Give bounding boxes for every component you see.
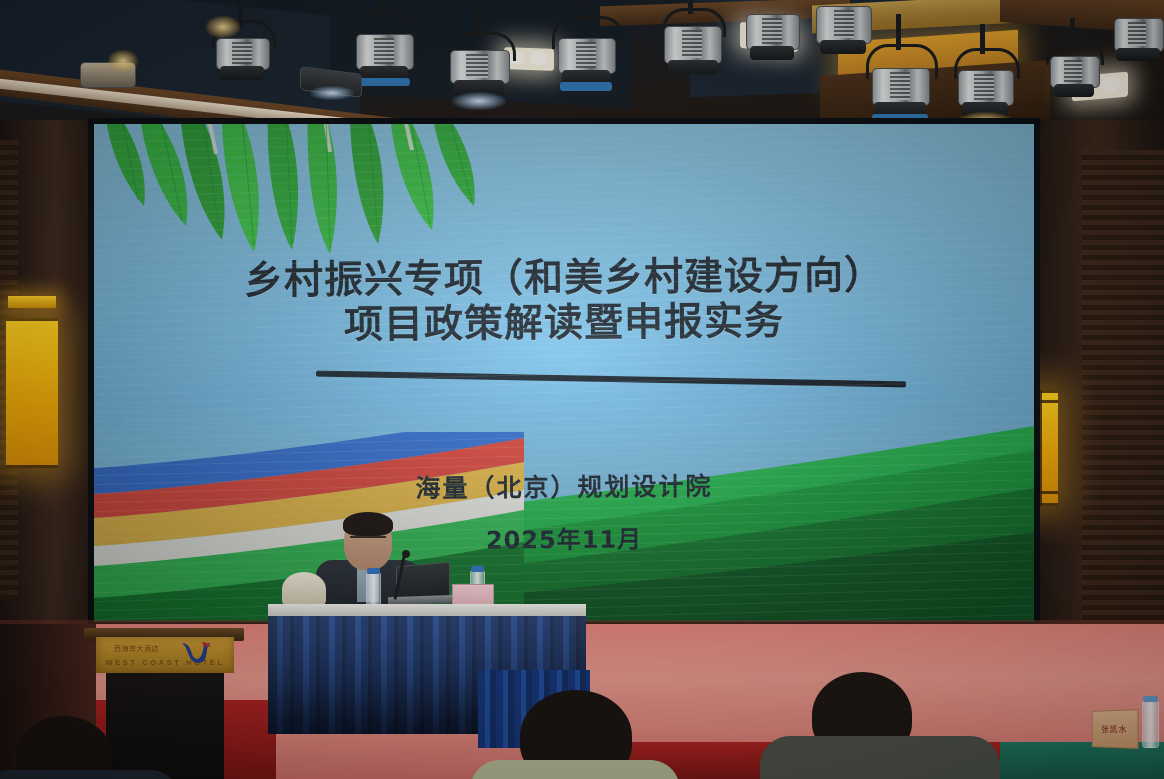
podium-plaque-chinese: 西海岸大酒店	[114, 644, 159, 654]
conference-hall-photo: 乡村振兴专项（和美乡村建设方向） 项目政策解读暨申报实务 海量（北京）规划设计院…	[0, 0, 1164, 779]
audience-shoulders	[470, 760, 680, 779]
podium-body	[106, 673, 224, 779]
slide-organization: 海量（北京）规划设计院	[94, 465, 1034, 508]
slide-divider-rule	[316, 371, 906, 388]
slide-title-line-2: 项目政策解读暨申报实务	[94, 297, 1034, 350]
audience-shoulders	[760, 736, 1000, 779]
microphone-head	[402, 550, 410, 558]
wall-sconce-left	[6, 318, 58, 468]
led-screen: 乡村振兴专项（和美乡村建设方向） 项目政策解读暨申报实务 海量（北京）规划设计院…	[94, 124, 1034, 622]
back-table	[1000, 742, 1164, 779]
slide-title: 乡村振兴专项（和美乡村建设方向） 项目政策解读暨申报实务	[94, 256, 1034, 346]
presenter-hair	[343, 512, 393, 536]
podium-plaque: 西海岸大酒店 WEST COAST HOTEL	[96, 637, 234, 673]
chair-back	[282, 572, 326, 606]
slide-date: 2025年11月	[94, 517, 1034, 559]
hotel-w-monogram-icon	[180, 640, 214, 664]
wall-sconce-left-cap	[8, 296, 56, 308]
slide-leaf-graphic	[94, 124, 488, 260]
name-placard-back-table: 张凯水	[1092, 709, 1139, 749]
right-wall-louver	[1082, 150, 1164, 650]
name-placard-text: 张凯水	[1093, 710, 1138, 748]
audience-shoulders	[0, 770, 180, 779]
water-bottle	[366, 572, 381, 608]
water-bottle	[1142, 700, 1159, 748]
presenter-glasses	[350, 536, 386, 546]
